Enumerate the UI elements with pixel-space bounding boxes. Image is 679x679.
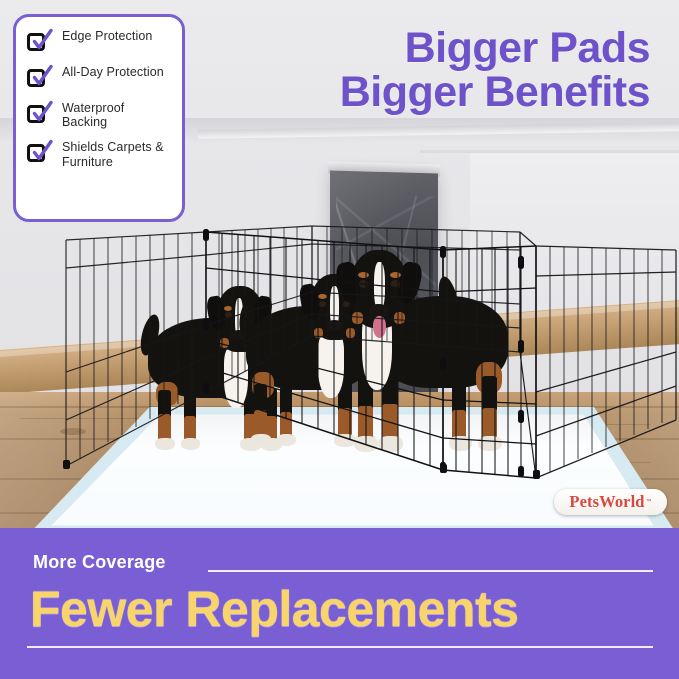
banner-rule-bottom [27, 646, 653, 648]
feature-item-label: Waterproof Backing [62, 101, 172, 129]
banner-eyebrow-text: More Coverage [33, 552, 166, 573]
wall-seam-secondary [420, 150, 679, 153]
feature-item-waterproof-backing: Waterproof Backing [27, 101, 172, 129]
brand-logo-text: PetsWorld [569, 492, 644, 512]
checkbox-check-icon [27, 30, 52, 54]
banner-headline-text: Fewer Replacements [30, 582, 655, 636]
checkbox-check-icon [27, 102, 52, 126]
headline-line-1: Bigger Pads [270, 26, 650, 70]
feature-item-all-day-protection: All-Day Protection [27, 65, 172, 90]
banner-rule-top [208, 570, 653, 572]
product-image-canvas: Edge Protection All-Day Protection Water… [0, 0, 679, 679]
feature-item-label: Edge Protection [62, 29, 152, 43]
checkbox-check-icon [27, 141, 52, 165]
feature-item-shields-carpets-furniture: Shields Carpets & Furniture [27, 140, 172, 168]
feature-checklist-card: Edge Protection All-Day Protection Water… [13, 14, 185, 222]
brand-logo: PetsWorld™ [554, 489, 667, 515]
checkbox-check-icon [27, 66, 52, 90]
headline: Bigger Pads Bigger Benefits [270, 26, 650, 114]
headline-line-2: Bigger Benefits [270, 70, 650, 114]
feature-item-label: Shields Carpets & Furniture [62, 140, 172, 168]
dog-tongue [373, 316, 386, 338]
dog-right-large [336, 252, 566, 467]
trademark-icon: ™ [646, 499, 652, 505]
feature-item-label: All-Day Protection [62, 65, 164, 79]
feature-item-edge-protection: Edge Protection [27, 29, 172, 54]
